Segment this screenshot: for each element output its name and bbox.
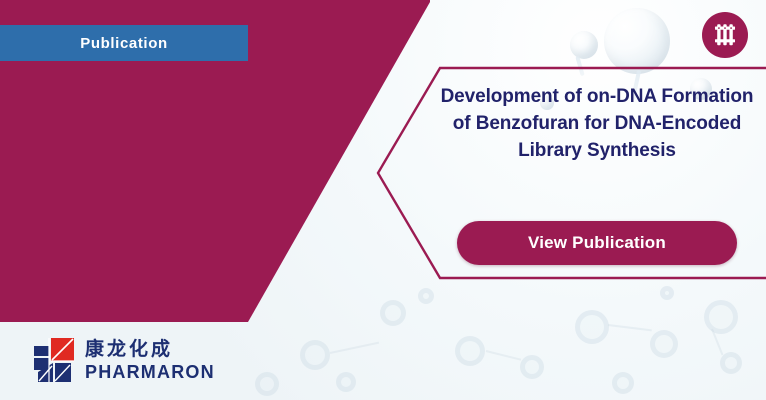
molecule-ring — [660, 286, 674, 300]
molecule-ring — [650, 330, 678, 358]
molecule-ring — [300, 340, 330, 370]
pharmaron-name-cn: 康龙化成 — [85, 340, 215, 359]
molecule-ring — [704, 300, 738, 334]
page-title: Development of on-DNA Formation of Benzo… — [436, 84, 758, 165]
molecule-ring — [612, 372, 634, 394]
publication-badge: Publication — [0, 25, 248, 61]
molecule-ring — [418, 288, 434, 304]
publication-badge-label: Publication — [80, 35, 167, 52]
pharmaron-logo: 康龙化成 PHARMARON — [30, 336, 215, 384]
molecule-ring — [720, 352, 742, 374]
pharmaron-name-en: PHARMARON — [85, 363, 215, 381]
molecule-ring — [575, 310, 609, 344]
molecule-ring — [380, 300, 406, 326]
pharmaron-logo-mark — [30, 336, 76, 384]
publication-banner: Publication Development of on-DNA Format… — [0, 0, 766, 400]
publication-title-block: Development of on-DNA Formation of Benzo… — [436, 84, 758, 165]
pharmaron-wordmark: 康龙化成 PHARMARON — [85, 340, 215, 381]
molecule-ring — [336, 372, 356, 392]
molecule-ring — [455, 336, 485, 366]
molecule-ring — [255, 372, 279, 396]
bubble-large — [604, 8, 670, 74]
test-tube-rack-icon — [702, 12, 748, 58]
bubble-medium — [570, 31, 598, 59]
molecule-ring — [520, 355, 544, 379]
view-publication-button[interactable]: View Publication — [457, 221, 737, 265]
